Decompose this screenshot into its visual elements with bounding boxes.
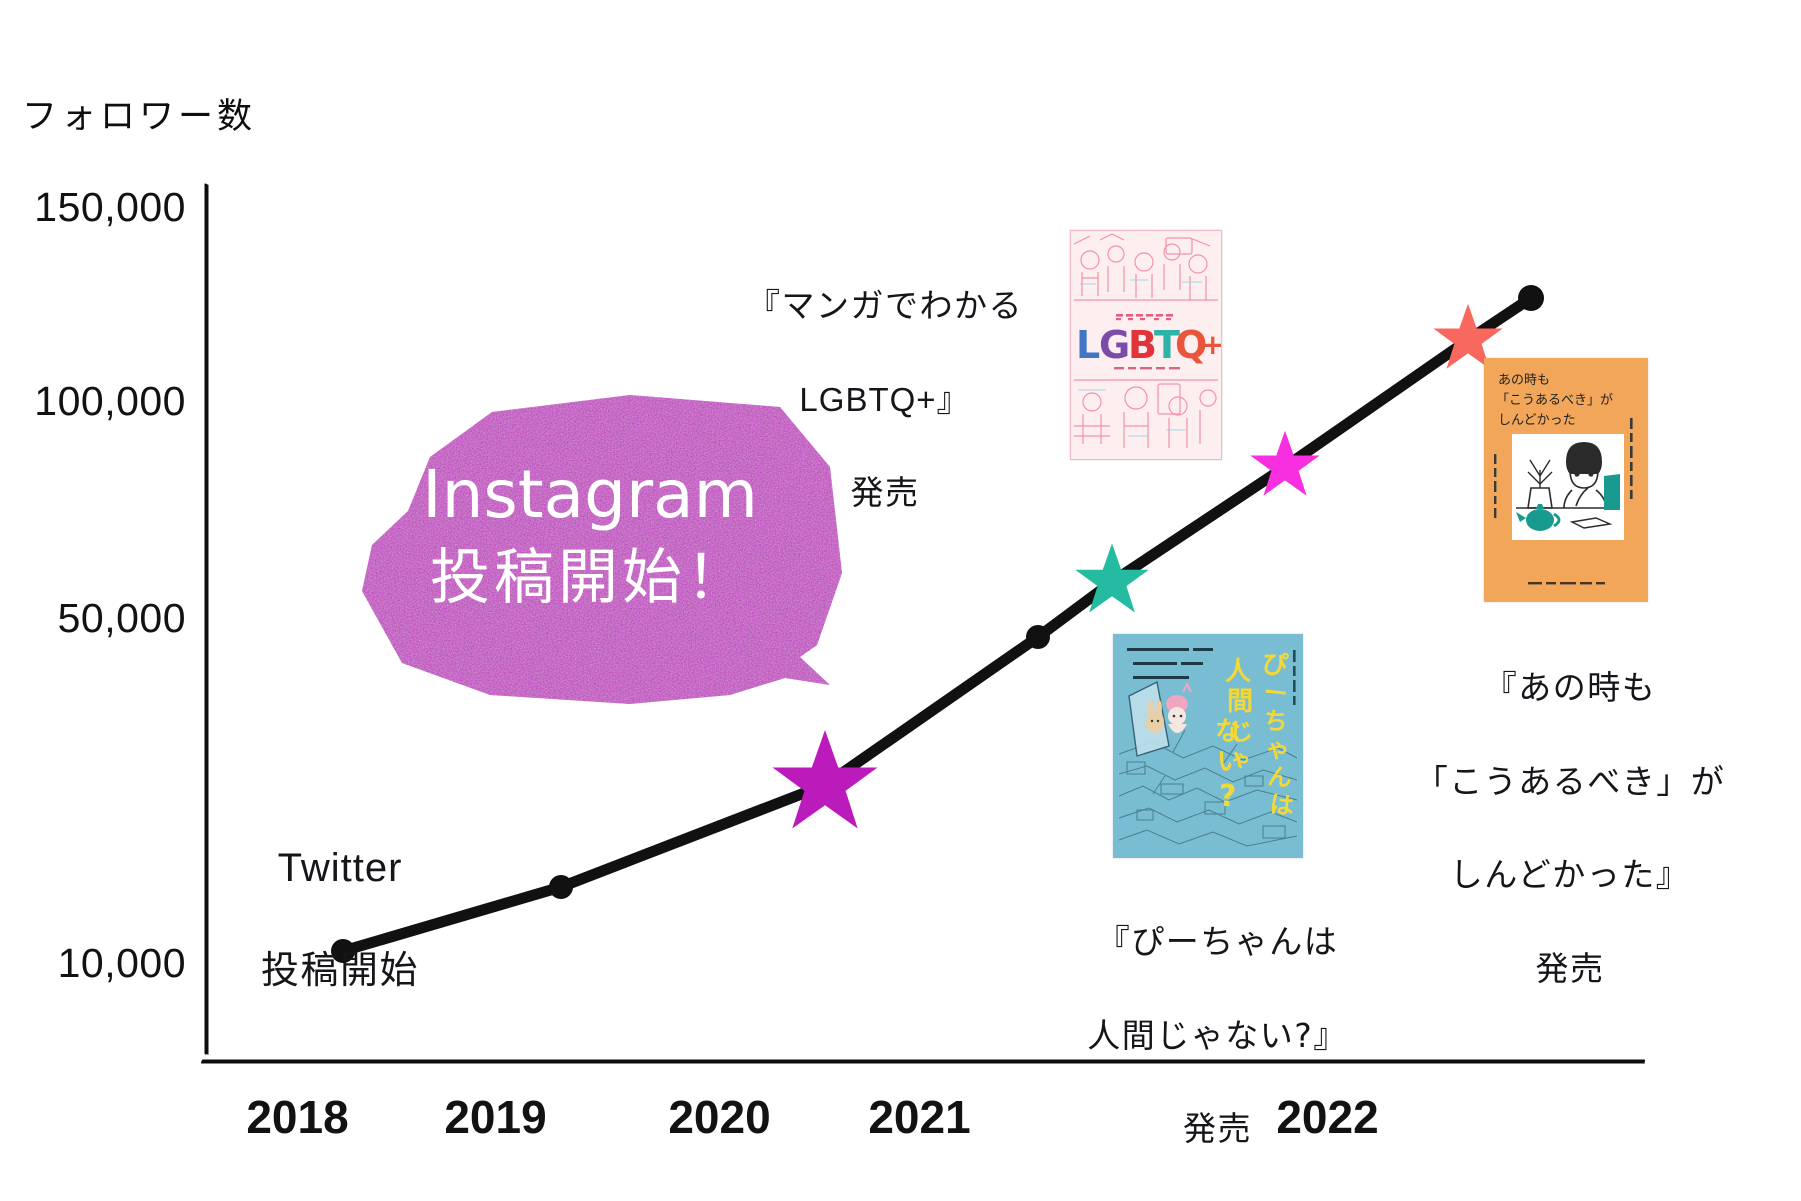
- annotation-twitter-line1: Twitter: [205, 840, 475, 897]
- svg-text:ん: ん: [1266, 762, 1293, 792]
- data-point-2021: [1026, 625, 1050, 649]
- svg-text:?: ?: [1219, 779, 1236, 814]
- annotation-anotoki-line1: 『あの時も: [1395, 665, 1745, 712]
- y-tick-100000: 100,000: [10, 378, 186, 425]
- svg-text:は: は: [1268, 790, 1295, 820]
- x-tick-2020: 2020: [637, 1090, 802, 1144]
- annotation-lgbtq-line2: LGBTQ+』: [730, 377, 1040, 424]
- annotation-pchan-line2: 人間じゃない?』: [1075, 1013, 1360, 1060]
- svg-text:な: な: [1215, 717, 1241, 747]
- annotation-lgbtq: 『マンガでわかる LGBTQ+』 発売: [730, 236, 1040, 564]
- data-point-2019: [549, 875, 573, 899]
- annotation-twitter-line2: 投稿開始: [205, 944, 475, 998]
- annotation-lgbtq-line3: 発売: [730, 470, 1040, 517]
- book-cover-anotoki: あの時も 「こうあるべき」が しんどかった: [1484, 358, 1648, 602]
- annotation-anotoki-line4: 発売: [1395, 946, 1745, 993]
- x-tick-2019: 2019: [413, 1090, 578, 1144]
- y-tick-10000: 10,000: [10, 940, 186, 987]
- annotation-anotoki: 『あの時も 「こうあるべき」が しんどかった』 発売: [1395, 618, 1745, 1040]
- book-cover-pchan: ぴ ー ち ゃ ん は 人 間 じ ゃ な い ?: [1113, 634, 1303, 858]
- annotation-pchan-line1: 『ぴーちゃんは: [1075, 919, 1360, 966]
- svg-text:B: B: [1128, 323, 1157, 367]
- y-axis-title: フォロワー数: [22, 88, 256, 139]
- svg-text:G: G: [1099, 323, 1130, 367]
- svg-text:しんどかった: しんどかった: [1498, 413, 1576, 428]
- svg-text:+: +: [1201, 328, 1222, 361]
- book-cover-lgbtq: L G B T Q +: [1070, 230, 1222, 460]
- x-axis-line: [206, 1060, 1640, 1063]
- svg-text:人: 人: [1225, 657, 1251, 687]
- annotation-anotoki-line3: しんどかった』: [1395, 852, 1745, 899]
- svg-text:ゃ: ゃ: [1264, 734, 1291, 764]
- svg-text:ち: ち: [1262, 706, 1289, 736]
- annotation-pchan: 『ぴーちゃんは 人間じゃない?』 発売: [1075, 872, 1360, 1200]
- x-tick-2018: 2018: [215, 1090, 380, 1144]
- annotation-pchan-line3: 発売: [1075, 1106, 1360, 1153]
- chart-canvas: フォロワー数 150,000 100,000 50,000 10,000 201…: [0, 0, 1801, 1201]
- svg-text:ぴ: ぴ: [1260, 649, 1289, 682]
- svg-text:い: い: [1217, 747, 1243, 777]
- data-point-2022-end: [1518, 285, 1544, 311]
- annotation-twitter: Twitter 投稿開始: [205, 793, 475, 1044]
- annotation-lgbtq-line1: 『マンガでわかる: [730, 283, 1040, 330]
- svg-text:ー: ー: [1262, 678, 1289, 708]
- svg-text:「こうあるべき」が: 「こうあるべき」が: [1496, 393, 1613, 408]
- svg-text:間: 間: [1227, 687, 1253, 717]
- svg-text:あの時も: あの時も: [1498, 373, 1550, 388]
- y-tick-150000: 150,000: [10, 184, 186, 231]
- annotation-anotoki-line2: 「こうあるべき」が: [1395, 759, 1745, 806]
- y-tick-50000: 50,000: [10, 595, 186, 642]
- svg-text:L: L: [1076, 323, 1100, 367]
- x-tick-2021: 2021: [837, 1090, 1002, 1144]
